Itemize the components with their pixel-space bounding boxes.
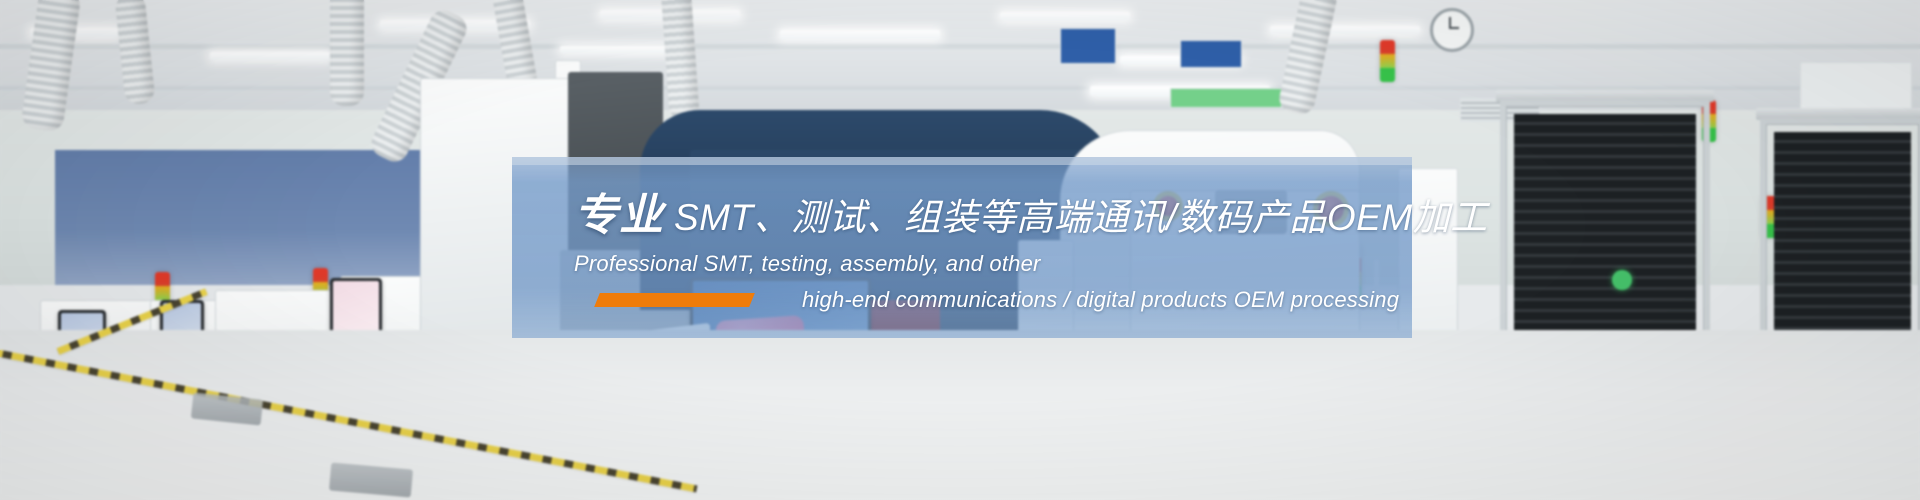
- banner-headline: 专业SMT、测试、组装等高端通讯/数码产品OEM加工: [574, 179, 1488, 243]
- banner-subtitle-line-1: Professional SMT, testing, assembly, and…: [574, 251, 1041, 277]
- banner-overlay-panel: 专业SMT、测试、组装等高端通讯/数码产品OEM加工 Professional …: [512, 157, 1412, 338]
- headline-rest: SMT、测试、组装等高端通讯/数码产品OEM加工: [674, 197, 1488, 238]
- banner-subtitle-line-2: high-end communications / digital produc…: [802, 287, 1399, 313]
- orange-accent-bar: [594, 293, 755, 307]
- overlay-top-band: [512, 157, 1412, 165]
- hero-banner: 专业SMT、测试、组装等高端通讯/数码产品OEM加工 Professional …: [0, 0, 1920, 500]
- headline-keyword: 专业: [574, 191, 664, 240]
